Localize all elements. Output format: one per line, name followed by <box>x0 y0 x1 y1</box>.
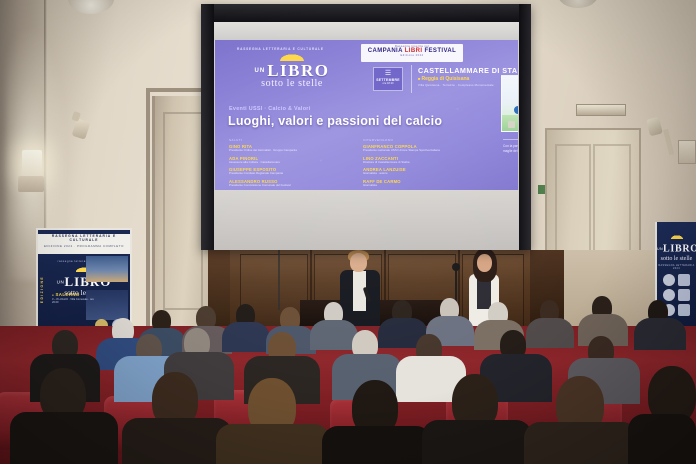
book-title-band: Luoghi, valori e passioni del calcio <box>514 106 518 114</box>
door-transom-right <box>576 104 626 116</box>
banner-city-1: SALERNO <box>52 292 80 297</box>
microphone-stand <box>455 268 457 304</box>
projected-slide: rassegna letteraria e culturale UNLIBRO … <box>215 40 518 212</box>
banner-photo-secondary <box>86 290 128 320</box>
banner-right-logo-libro: LIBRO <box>663 243 696 254</box>
audience-shoulders <box>422 420 532 464</box>
date-badge: ☰ SETTEMBRE ore 18.30 <box>373 67 403 91</box>
audience-shoulders <box>628 414 696 464</box>
person-role: Presidente Ordine dei Giornalisti · Grup… <box>229 149 347 152</box>
banner-top-line-2: EDIZIONE 2024 · PROGRAMMA COMPLETO <box>38 244 130 248</box>
exit-sign-icon <box>538 185 545 194</box>
slide-divider <box>411 65 412 93</box>
festival-sub: Edizione 2024 <box>361 54 463 57</box>
person-entry: RAFF DE CARMO Giornalista <box>363 179 483 187</box>
person-entry: GIANFRANCO COPPOLA Presidente nazionale … <box>363 144 483 152</box>
wings-icon <box>276 52 308 61</box>
person-role: Assessore alla Cultura · Castellammare <box>229 161 347 164</box>
slide-headline: Luoghi, valori e passioni del calcio <box>228 114 442 128</box>
wings-icon <box>669 234 685 239</box>
screen-support-pole <box>278 250 280 310</box>
person-entry: ANDREA LANZUISE Giornalista · autore <box>363 167 483 175</box>
audience-shoulders <box>216 424 330 464</box>
screen-frame-left <box>201 4 214 250</box>
banner-right-logo-sotto: sotto le stelle <box>657 256 696 262</box>
banner-right-logo: UNLIBRO sotto le stelle <box>657 234 696 262</box>
sponsor-logo-icon <box>678 289 690 301</box>
speaker-head <box>477 254 492 272</box>
festival-title-1: CAMPANIA <box>368 48 403 54</box>
conference-hall-photo: rassegna letteraria e culturale UNLIBRO … <box>0 0 696 464</box>
slide-series: Eventi USSI · Calcio & Valori <box>229 106 311 112</box>
banner-right-meta: RASSEGNA LETTERARIA 2024 <box>657 264 696 270</box>
logo-sotto-text: sotto le stelle <box>233 78 351 89</box>
wall-sconce-lamp <box>22 150 42 176</box>
person-entry: LINO ZACCANTI Direttore di Castellammare… <box>363 156 483 164</box>
sponsor-logo-icon <box>663 289 675 301</box>
person-entry: GINO RITA Presidente Ordine dei Giornali… <box>229 144 347 152</box>
logo-un-text: UN <box>255 68 266 74</box>
screen-blank-area <box>214 22 519 40</box>
calendar-icon: ☰ <box>374 70 402 77</box>
person-role: Giornalista <box>363 184 483 187</box>
sponsor-logo-icon <box>663 274 675 286</box>
banner-top-line-1: RASSEGNA LETTERARIA E CULTURALE <box>38 234 130 242</box>
screen-blank-lower <box>214 190 519 250</box>
banner-photo-seafront <box>86 256 128 282</box>
door-panel <box>163 112 203 310</box>
person-role: Presidente Commissione Comunale del Fest… <box>229 184 347 187</box>
person-entry: ADA PINORIL Assessore alla Cultura · Cas… <box>229 156 347 164</box>
audience-shoulders <box>310 320 358 350</box>
audience-shoulders <box>526 318 574 348</box>
projection-screen: rassegna letteraria e culturale UNLIBRO … <box>201 4 531 250</box>
audience-shoulders <box>634 318 686 350</box>
person-role: Presidente nazionale USSI Unione Stampa … <box>363 149 483 152</box>
audience-shoulders <box>524 422 638 464</box>
book-cover-image: Luoghi, valori e passioni del calcio <box>501 75 518 132</box>
slide-logo: UNLIBRO sotto le stelle <box>233 52 351 89</box>
person-entry: ALESSANDRO RUSSO Presidente Commissione … <box>229 179 347 187</box>
festival-title-3: FESTIVAL <box>424 48 456 54</box>
sponsor-logo-icon <box>678 304 690 316</box>
note-rule <box>503 139 518 140</box>
audience-shoulders <box>10 412 118 464</box>
person-role: Presidente Comitato Regionale Campania <box>229 172 347 175</box>
banner-side-label: EDIZIONE <box>40 276 44 303</box>
column-head: Intervengono <box>363 138 483 142</box>
speaker-head <box>350 253 367 272</box>
person-role: Direttore di Castellammare di Stabia <box>363 161 483 164</box>
wall-switch-plate[interactable] <box>678 140 696 164</box>
speakers-column-intervengono: Intervengono GIANFRANCO COPPOLA Presiden… <box>363 138 483 191</box>
date-time: ore 18.30 <box>374 82 402 85</box>
person-entry: GIUSEPPE ESPOSITO Presidente Comitato Re… <box>229 167 347 175</box>
person-role: Giornalista · autore <box>363 172 483 175</box>
place-city: CASTELLAMMARE DI STABIA <box>418 66 518 75</box>
audience-shoulders <box>322 426 432 464</box>
festival-badge: Rassegna inserita nel CAMPANIA LIBRI FES… <box>361 44 463 62</box>
banner-top-strip: RASSEGNA LETTERARIA E CULTURALE EDIZIONE… <box>38 234 130 254</box>
screen-frame-top <box>201 4 531 22</box>
publisher-logo-icon <box>508 121 515 128</box>
screen-surface: rassegna letteraria e culturale UNLIBRO … <box>214 22 519 250</box>
column-head: Saluti <box>229 138 347 142</box>
audience-shoulders <box>222 322 270 352</box>
slide-note: Con la partecipazione di tanti ospiti: g… <box>503 144 518 154</box>
banner-city-1-sub: 3 – 8 LUGLIO · Villa Comunale · ore 20.0… <box>52 298 100 305</box>
screen-frame-right <box>519 4 531 250</box>
wall-sconce-plate <box>18 176 44 192</box>
sponsor-logo-icon <box>678 274 690 286</box>
